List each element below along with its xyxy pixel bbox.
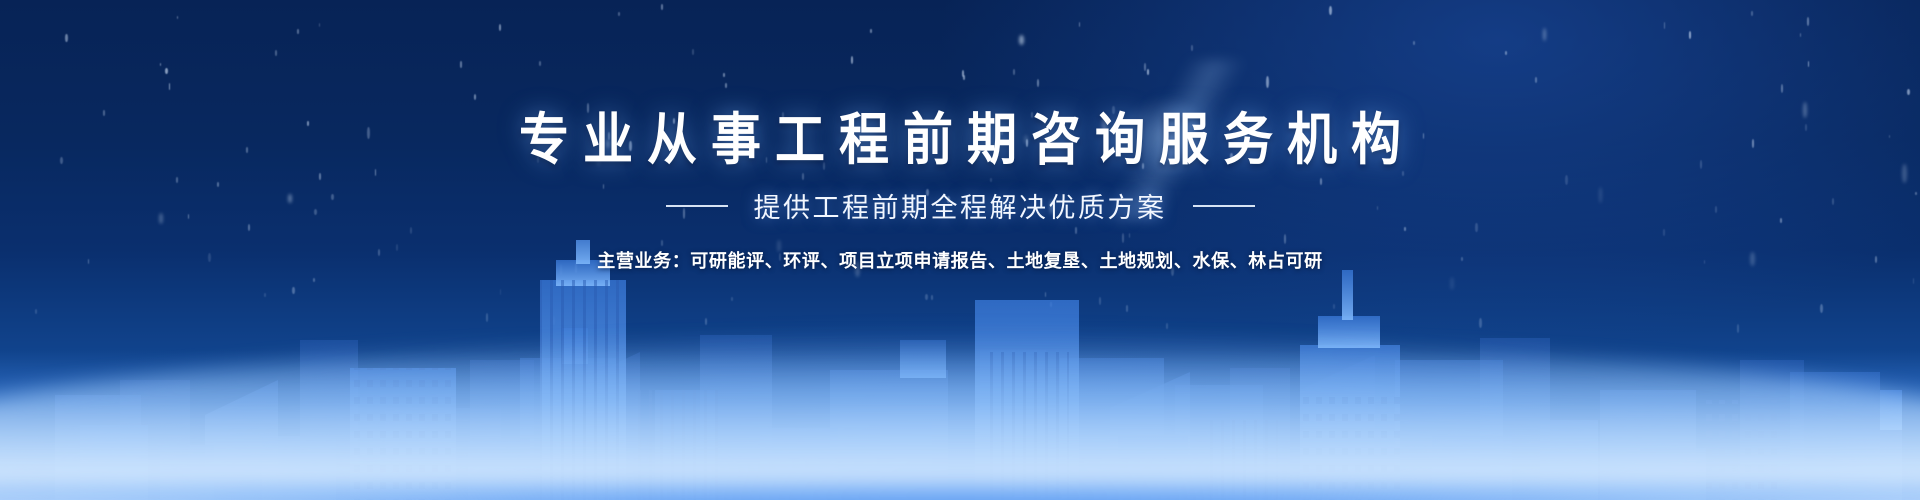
banner-subtitle-row: 提供工程前期全程解决优质方案 [666,186,1255,225]
banner-services-line: 主营业务：可研能评、环评、项目立项申请报告、土地复垦、土地规划、水保、林占可研 [597,247,1322,273]
banner-headline: 专业从事工程前期咨询服务机构 [505,112,1415,168]
dash-left-icon [666,205,728,207]
dash-right-icon [1193,205,1255,207]
banner-subtitle: 提供工程前期全程解决优质方案 [754,186,1167,225]
hero-banner: 专业从事工程前期咨询服务机构 提供工程前期全程解决优质方案 主营业务：可研能评、… [0,0,1920,500]
banner-content: 专业从事工程前期咨询服务机构 提供工程前期全程解决优质方案 主营业务：可研能评、… [0,0,1920,500]
